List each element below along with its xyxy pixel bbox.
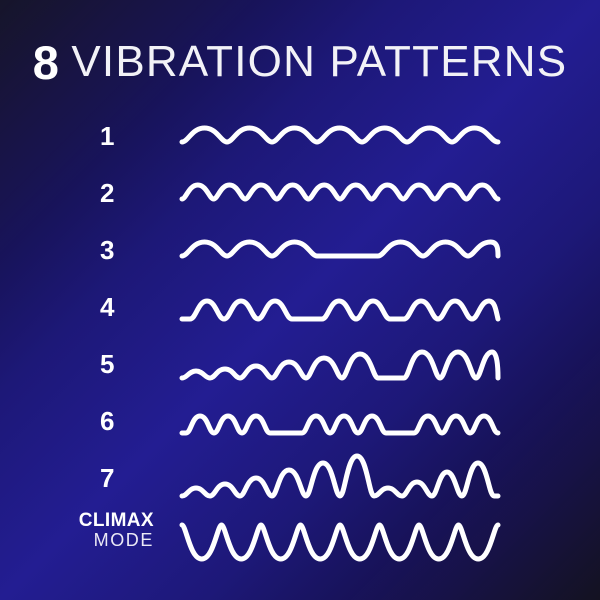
pattern-number-7: 7 <box>100 450 144 507</box>
pattern-waveform-5 <box>182 336 498 393</box>
pattern-number-6: 6 <box>100 393 144 450</box>
wave-path-5 <box>182 352 498 378</box>
pattern-row-2[interactable]: 2 <box>0 165 600 222</box>
pattern-number-2: 2 <box>100 165 144 222</box>
climax-mode-label: CLIMAX MODE <box>28 511 154 550</box>
pattern-row-6[interactable]: 6 <box>0 393 600 450</box>
pattern-waveform-7 <box>182 450 498 507</box>
wave-path-4 <box>182 301 498 319</box>
pattern-waveform-3 <box>182 222 498 279</box>
climax-word: CLIMAX <box>28 511 154 531</box>
wave-path-1 <box>182 128 498 142</box>
wave-path-7 <box>182 456 498 496</box>
pattern-row-climax[interactable]: CLIMAX MODE <box>0 507 600 573</box>
pattern-number-5: 5 <box>100 336 144 393</box>
pattern-list: 1 2 3 <box>0 108 600 573</box>
wave-path-2 <box>182 185 498 199</box>
title-text: VIBRATION PATTERNS <box>71 40 567 84</box>
mode-word: MODE <box>28 531 154 550</box>
pattern-waveform-4 <box>182 279 498 336</box>
pattern-waveform-6 <box>182 393 498 450</box>
pattern-row-4[interactable]: 4 <box>0 279 600 336</box>
title-pattern-count: 8 <box>33 39 59 86</box>
wave-path-6 <box>182 416 498 433</box>
pattern-row-7[interactable]: 7 <box>0 450 600 507</box>
pattern-number-3: 3 <box>100 222 144 279</box>
pattern-number-4: 4 <box>100 279 144 336</box>
pattern-waveform-2 <box>182 165 498 222</box>
vibration-patterns-poster: 8 VIBRATION PATTERNS 1 2 3 <box>0 0 600 600</box>
wave-path-climax <box>182 525 498 559</box>
pattern-row-3[interactable]: 3 <box>0 222 600 279</box>
pattern-number-1: 1 <box>100 108 144 165</box>
page-title: 8 VIBRATION PATTERNS <box>0 34 600 90</box>
wave-path-3 <box>182 242 498 256</box>
pattern-row-5[interactable]: 5 <box>0 336 600 393</box>
pattern-waveform-1 <box>182 108 498 165</box>
pattern-waveform-climax <box>182 507 498 573</box>
pattern-row-1[interactable]: 1 <box>0 108 600 165</box>
